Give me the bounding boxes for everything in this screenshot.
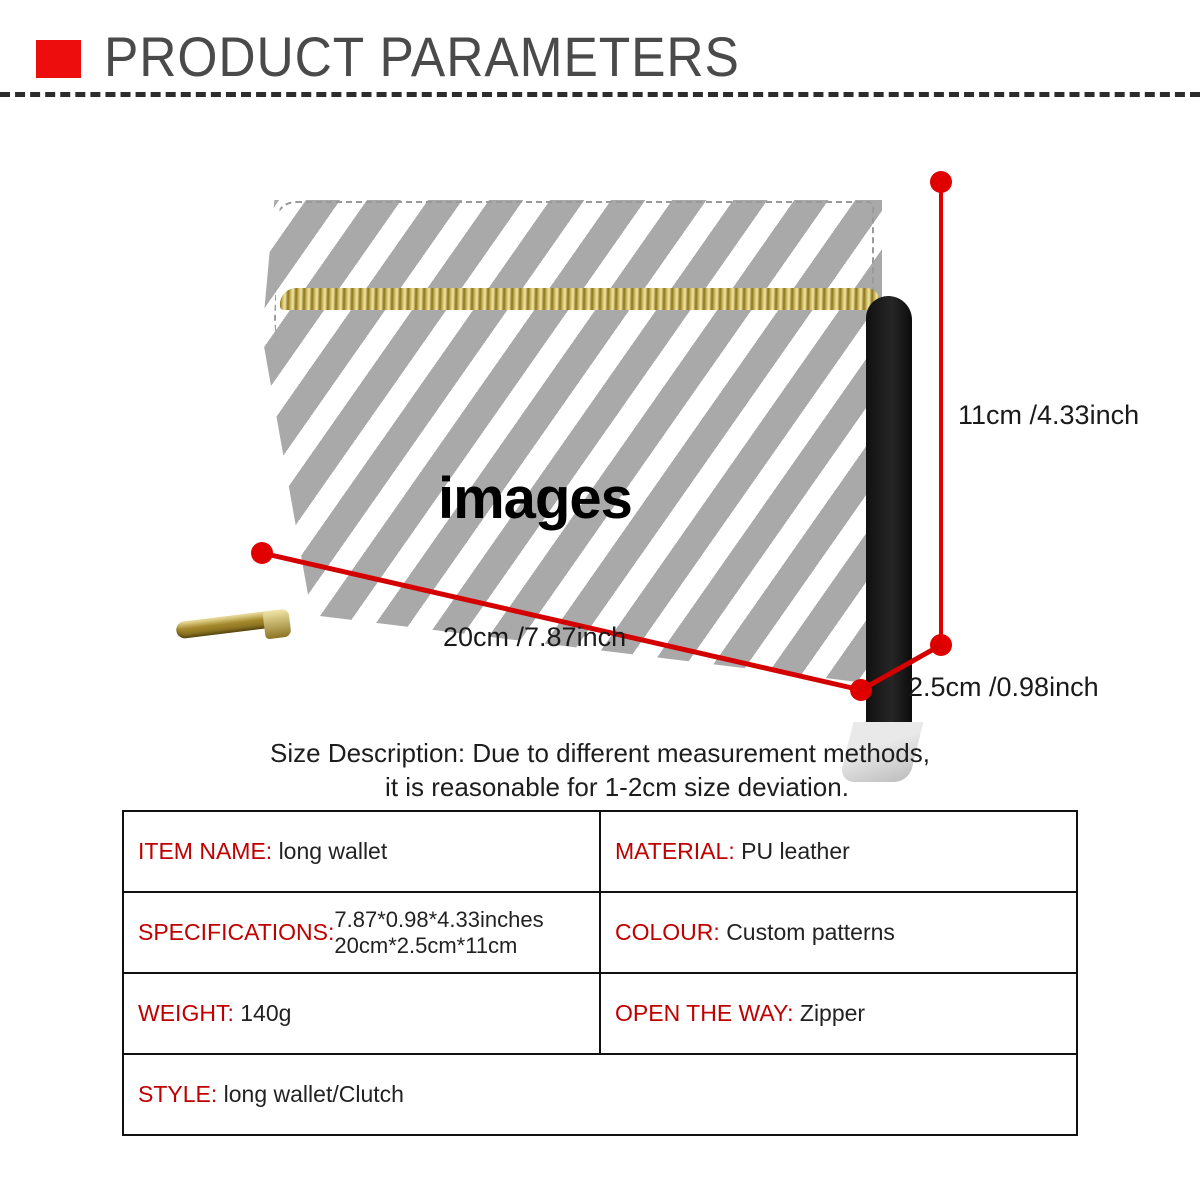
table-cell-specifications: SPECIFICATIONS: 7.87*0.98*4.33inches 20c… — [123, 892, 600, 973]
specification-table: ITEM NAME: long wallet MATERIAL: PU leat… — [122, 810, 1078, 1136]
wallet-illustration — [262, 185, 882, 685]
open-the-way-key: OPEN THE WAY: — [615, 1000, 800, 1026]
weight-value: 140g — [240, 1000, 291, 1026]
table-cell-weight: WEIGHT: 140g — [123, 973, 600, 1054]
zipper-slider — [262, 609, 291, 640]
header-accent-square — [36, 40, 81, 78]
wallet-stitch-line — [274, 201, 874, 655]
depth-dimension-label: 2.5cm /0.98inch — [908, 672, 1099, 703]
table-cell-material: MATERIAL: PU leather — [600, 811, 1077, 892]
table-row: WEIGHT: 140g OPEN THE WAY: Zipper — [123, 973, 1077, 1054]
size-description-line2: it is reasonable for 1-2cm size deviatio… — [0, 770, 1200, 804]
colour-key: COLOUR: — [615, 919, 726, 945]
style-value: long wallet/Clutch — [224, 1081, 404, 1107]
material-value: PU leather — [741, 838, 850, 864]
style-key: STYLE: — [138, 1081, 224, 1107]
specifications-value-inches: 7.87*0.98*4.33inches — [334, 907, 543, 932]
table-row: ITEM NAME: long wallet MATERIAL: PU leat… — [123, 811, 1077, 892]
table-row: STYLE: long wallet/Clutch — [123, 1054, 1077, 1135]
open-the-way-value: Zipper — [800, 1000, 865, 1026]
wallet-watermark-text: images — [438, 465, 632, 532]
colour-value: Custom patterns — [726, 919, 895, 945]
width-dimension-label: 20cm /7.87inch — [443, 622, 626, 653]
size-description: Size Description: Due to different measu… — [0, 736, 1200, 805]
page-header: PRODUCT PARAMETERS — [0, 0, 1200, 100]
weight-key: WEIGHT: — [138, 1000, 240, 1026]
header-dashed-divider — [0, 92, 1200, 97]
specifications-value-cm: 20cm*2.5cm*11cm — [334, 933, 517, 958]
height-dimension-label: 11cm /4.33inch — [958, 400, 1139, 431]
table-cell-style: STYLE: long wallet/Clutch — [123, 1054, 1077, 1135]
item-name-key: ITEM NAME: — [138, 838, 279, 864]
specifications-value: 7.87*0.98*4.33inches 20cm*2.5cm*11cm — [334, 907, 543, 959]
table-cell-colour: COLOUR: Custom patterns — [600, 892, 1077, 973]
table-row: SPECIFICATIONS: 7.87*0.98*4.33inches 20c… — [123, 892, 1077, 973]
table-cell-item-name: ITEM NAME: long wallet — [123, 811, 600, 892]
specifications-key: SPECIFICATIONS: — [138, 919, 334, 946]
size-description-line1: Size Description: Due to different measu… — [270, 738, 930, 768]
zipper-teeth-top — [280, 288, 880, 310]
page-title: PRODUCT PARAMETERS — [104, 24, 740, 89]
table-cell-open-the-way: OPEN THE WAY: Zipper — [600, 973, 1077, 1054]
material-key: MATERIAL: — [615, 838, 741, 864]
item-name-value: long wallet — [279, 838, 388, 864]
